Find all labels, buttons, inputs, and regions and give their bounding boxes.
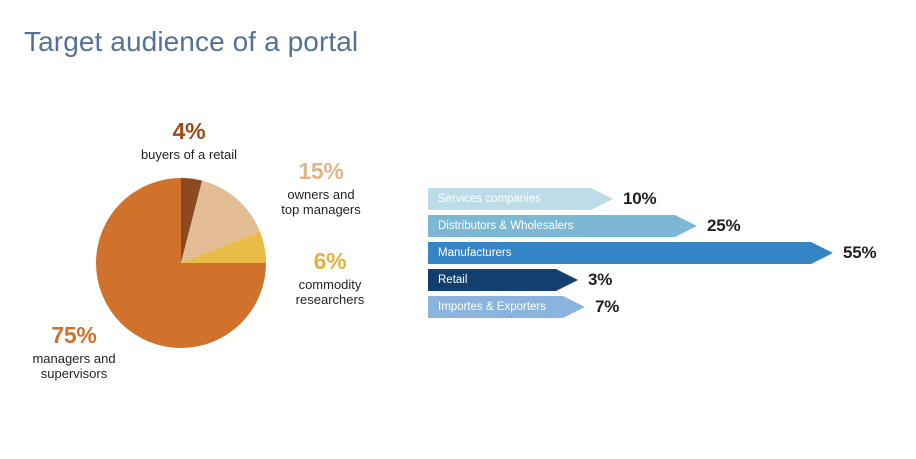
pie-value-managers-and-supervisors: 75% xyxy=(0,322,148,349)
pie-desc-commodity-line1: commodity xyxy=(262,277,398,292)
bar-chart: Services companies10%Distributors & Whol… xyxy=(428,188,898,323)
bar-shape xyxy=(428,215,697,237)
bar-row[interactable]: Services companies10% xyxy=(428,188,898,210)
pie-label-commodity-researchers: 6% commodity researchers xyxy=(262,248,398,308)
bar-value: 7% xyxy=(595,296,619,318)
bar-row[interactable]: Distributors & Wholesalers25% xyxy=(428,215,898,237)
pie-chart: 4% buyers of a retail 15% owners and top… xyxy=(0,0,420,459)
pie-value-owners-and-top-managers: 15% xyxy=(250,158,392,185)
bar-value: 10% xyxy=(623,188,656,210)
pie-desc-managers-line1: managers and xyxy=(0,351,148,366)
pie-value-buyers-of-a-retail: 4% xyxy=(104,118,274,145)
pie-label-buyers-of-a-retail: 4% buyers of a retail xyxy=(104,118,274,162)
bar-shape xyxy=(428,188,613,210)
pie-label-owners-and-top-managers: 15% owners and top managers xyxy=(250,158,392,218)
bar-value: 3% xyxy=(588,269,612,291)
pie-desc-commodity-line2: researchers xyxy=(262,292,398,307)
pie-value-commodity-researchers: 6% xyxy=(262,248,398,275)
bar-shape xyxy=(428,242,833,264)
bar-shape xyxy=(428,269,578,291)
pie-label-managers-and-supervisors: 75% managers and supervisors xyxy=(0,322,148,382)
bar-row[interactable]: Manufacturers55% xyxy=(428,242,898,264)
bar-row[interactable]: Retail3% xyxy=(428,269,898,291)
bar-value: 25% xyxy=(707,215,740,237)
bar-value: 55% xyxy=(843,242,876,264)
pie-desc-managers-line2: supervisors xyxy=(0,366,148,381)
pie-desc-buyers-of-a-retail: buyers of a retail xyxy=(104,147,274,162)
bar-shape xyxy=(428,296,585,318)
pie-desc-owners-line2: top managers xyxy=(250,202,392,217)
pie-desc-owners-line1: owners and xyxy=(250,187,392,202)
bar-row[interactable]: Importes & Exporters7% xyxy=(428,296,898,318)
